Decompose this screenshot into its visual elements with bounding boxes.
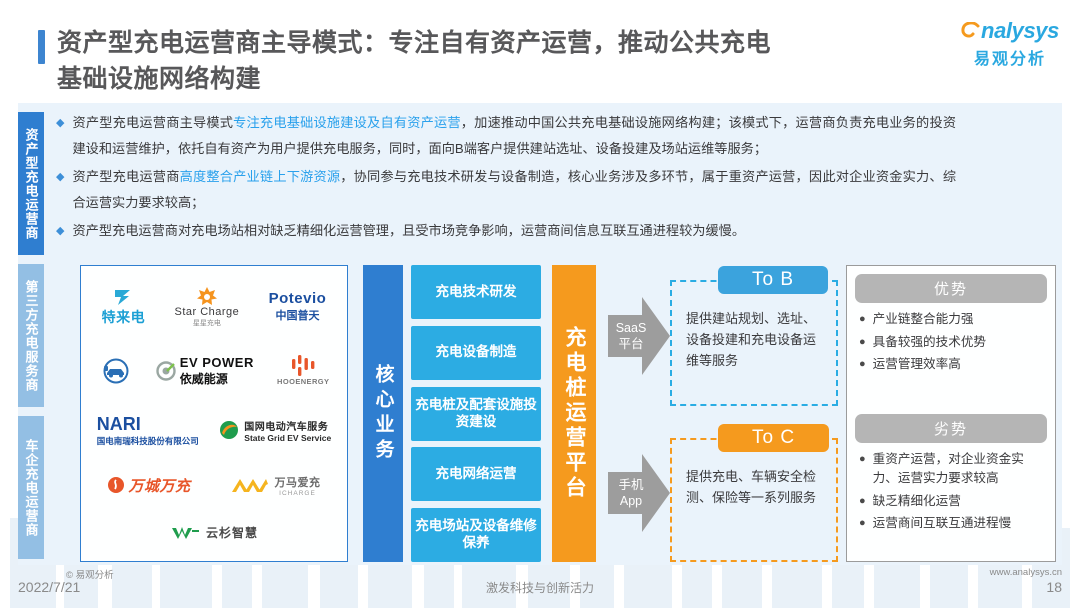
cons-heading: 劣势 — [855, 414, 1047, 443]
operator-logo-panel: 特来电 Star Charge 星星充电 Potevio 中国普天 — [80, 265, 348, 562]
brand-name: HOOENERGY — [277, 377, 329, 386]
bolt-icon — [112, 287, 134, 307]
brand-logo-potevio: Potevio 中国普天 — [269, 290, 327, 323]
core-item-1[interactable]: 充电设备制造 — [411, 326, 541, 380]
footer-slogan: 激发科技与创新活力 — [0, 579, 1080, 596]
pros-item-text: 运营管理效率高 — [873, 355, 961, 375]
pros-list: ●产业链整合能力强 ●具备较强的技术优势 ●运营管理效率高 — [855, 310, 1047, 378]
bullet-list: ◆ 资产型充电运营商主导模式专注充电基础设施建设及自有资产运营，加速推动中国公共… — [56, 110, 956, 246]
bullet-phrase: 资产型充电运营商 — [72, 169, 179, 184]
bullet-dot-icon: ● — [859, 514, 866, 534]
brand-logo-wanma-icharge: 万马爱充 ICHARGE — [231, 474, 320, 497]
cons-item-text: 缺乏精细化运营 — [873, 492, 961, 512]
swirl-icon — [218, 420, 240, 440]
brand-logo-evpower: EV POWER 依威能源 — [156, 355, 254, 387]
core-item-2[interactable]: 充电桩及配套设施投资建设 — [411, 387, 541, 441]
dest-body-to-c: 提供充电、车辆安全检测、保险等一系列服务 — [670, 438, 838, 562]
ev-car-icon — [99, 358, 133, 384]
cons-item: ●运营商间互联互通进程慢 — [859, 514, 1047, 534]
operator-logo-grid: 特来电 Star Charge 星星充电 Potevio 中国普天 — [87, 272, 341, 555]
sidebar-tabs: 资产型充电运营商 第三方充电服务商 车企充电运营商 — [18, 112, 44, 559]
cons-item: ●缺乏精细化运营 — [859, 492, 1047, 512]
bullet-dot-icon: ● — [859, 450, 866, 489]
arrow-label-line1: 手机 — [618, 477, 643, 493]
brand-logo-yunshan: 云杉智慧 — [170, 524, 258, 542]
channel-to-b: SaaS 平台 To B 提供建站规划、选址、设备投建和充电设备运维等服务 — [608, 266, 838, 406]
dest-caption-to-b: To B — [718, 266, 828, 294]
cons-item-text: 重资产运营，对企业资金实力、运营实力要求较高 — [873, 450, 1047, 489]
arrow-saas-icon: SaaS 平台 — [608, 297, 670, 375]
footer-url[interactable]: www.analysys.cn — [990, 567, 1062, 578]
diagram-area: 特来电 Star Charge 星星充电 Potevio 中国普天 — [56, 262, 1056, 564]
brand-name: 国网电动汽车服务 — [244, 418, 328, 433]
pros-cons-panel: 优势 ●产业链整合能力强 ●具备较强的技术优势 ●运营管理效率高 劣势 ●重资产… — [846, 265, 1056, 562]
brand-subname: 中国普天 — [275, 307, 319, 323]
cons-block: 劣势 ●重资产运营，对企业资金实力、运营实力要求较高 ●缺乏精细化运营 ●运营商… — [855, 414, 1047, 554]
bars-icon — [290, 355, 316, 377]
brand-subname: State Grid EV Service — [244, 433, 331, 443]
bullet-dot-icon: ● — [859, 310, 866, 330]
dest-body-to-b: 提供建站规划、选址、设备投建和充电设备运维等服务 — [670, 280, 838, 406]
pros-item: ●产业链整合能力强 — [859, 310, 1047, 330]
brand-logo-starcharge: Star Charge 星星充电 — [174, 286, 239, 328]
brand-logo-state-grid-ev: 国网电动汽车服务 State Grid EV Service — [218, 418, 331, 443]
brand-subname: ICHARGE — [279, 490, 316, 497]
channel-to-c: 手机 App To C 提供充电、车辆安全检测、保险等一系列服务 — [608, 424, 838, 562]
core-business-list: 充电技术研发 充电设备制造 充电桩及配套设施投资建设 充电网络运营 充电场站及设… — [411, 265, 541, 562]
highlighted-phrase: 专注充电基础设施建设及自有资产运营 — [233, 115, 461, 130]
logo-row: 特来电 Star Charge 星星充电 Potevio 中国普天 — [87, 286, 341, 328]
arrow-mobile-app-icon: 手机 App — [608, 454, 670, 532]
dest-box-to-c: To C 提供充电、车辆安全检测、保险等一系列服务 — [670, 424, 838, 562]
star-burst-icon — [196, 286, 218, 306]
bullet-dot-icon: ● — [859, 355, 866, 375]
core-item-0[interactable]: 充电技术研发 — [411, 265, 541, 319]
logo-wordmark: nalysys — [981, 18, 1059, 44]
brand-subname: 星星充电 — [193, 318, 221, 328]
brand-logo-tgood: 特来电 — [102, 287, 146, 327]
brand-name: 特来电 — [102, 307, 146, 327]
brand-name: 万城万充 — [128, 475, 190, 496]
footer: © 易观分析 2022/7/21 激发科技与创新活力 www.analysys.… — [0, 565, 1080, 608]
diamond-bullet-icon: ◆ — [56, 164, 64, 216]
cons-item-text: 运营商间互联互通进程慢 — [873, 514, 1012, 534]
bullet-dot-icon: ● — [859, 492, 866, 512]
cons-list: ●重资产运营，对企业资金实力、运营实力要求较高 ●缺乏精细化运营 ●运营商间互联… — [855, 450, 1047, 537]
title-accent-bar — [38, 30, 45, 64]
slide-root: analysys 易观分析 — [0, 0, 1080, 608]
logo-swoosh-icon — [961, 22, 981, 44]
brand-name: EV POWER — [180, 355, 254, 370]
analysys-logo: nalysys 易观分析 — [954, 18, 1066, 69]
bullet-item: ◆ 资产型充电运营商主导模式专注充电基础设施建设及自有资产运营，加速推动中国公共… — [56, 110, 956, 162]
platform-bar: 充电桩运营平台 — [552, 265, 596, 562]
target-leaf-icon — [156, 361, 176, 381]
core-item-4[interactable]: 充电场站及设备维修保养 — [411, 508, 541, 562]
arrow-label-line1: SaaS — [616, 320, 647, 336]
pros-heading: 优势 — [855, 274, 1047, 303]
bullet-item: ◆ 资产型充电运营商对充电场站相对缺乏精细化运营管理，且受市场竞争影响，运营商间… — [56, 218, 956, 244]
highlighted-phrase: 高度整合产业链上下游资源 — [180, 169, 341, 184]
bullet-text-1: 资产型充电运营商高度整合产业链上下游资源，协同参与充电技术研发与设备制造，核心业… — [72, 164, 956, 216]
logo-row: 云杉智慧 — [87, 524, 341, 542]
dest-caption-to-c: To C — [718, 424, 829, 452]
logo-row: EV POWER 依威能源 HOOENER — [87, 355, 341, 387]
dest-box-to-b: To B 提供建站规划、选址、设备投建和充电设备运维等服务 — [670, 266, 838, 406]
sidebar-item-third-party-service[interactable]: 第三方充电服务商 — [18, 264, 44, 407]
sidebar-item-oem-operator[interactable]: 车企充电运营商 — [18, 416, 44, 559]
brand-subname: 国电南瑞科技股份有限公司 — [97, 435, 199, 447]
logo-chinese-name: 易观分析 — [954, 45, 1066, 69]
page-title-line2: 基础设施网络构建 — [57, 62, 771, 98]
logo-row: NARI 国电南瑞科技股份有限公司 国网电动汽车服务 State Grid EV… — [87, 414, 341, 447]
bullet-text-0: 资产型充电运营商主导模式专注充电基础设施建设及自有资产运营，加速推动中国公共充电… — [72, 110, 956, 162]
bullet-item: ◆ 资产型充电运营商高度整合产业链上下游资源，协同参与充电技术研发与设备制造，核… — [56, 164, 956, 216]
diamond-bullet-icon: ◆ — [56, 218, 64, 244]
brand-logo-wanbang — [99, 358, 133, 384]
pros-item-text: 产业链整合能力强 — [873, 310, 974, 330]
core-item-3[interactable]: 充电网络运营 — [411, 447, 541, 501]
brand-name: Star Charge — [174, 306, 239, 318]
cons-item: ●重资产运营，对企业资金实力、运营实力要求较高 — [859, 450, 1047, 489]
brand-name: Potevio — [269, 290, 327, 307]
pros-item: ●运营管理效率高 — [859, 355, 1047, 375]
bullet-phrase: 资产型充电运营商对充电场站相对缺乏精细化运营管理，且受市场竞争影响，运营商间信息… — [72, 223, 745, 238]
pros-item-text: 具备较强的技术优势 — [873, 333, 986, 353]
pros-item: ●具备较强的技术优势 — [859, 333, 1047, 353]
arrow-label-line2: 平台 — [618, 336, 643, 352]
brand-subname: 依威能源 — [180, 370, 228, 387]
sidebar-item-asset-operator[interactable]: 资产型充电运营商 — [18, 112, 44, 255]
core-business-bar: 核心业务 — [363, 265, 403, 562]
brand-logo-wanchengwanchong: 万城万充 — [107, 475, 190, 496]
brand-name: 万马爱充 — [274, 474, 320, 490]
footer-page-number: 18 — [1046, 579, 1062, 595]
bullet-dot-icon: ● — [859, 333, 866, 353]
pros-block: 优势 ●产业链整合能力强 ●具备较强的技术优势 ●运营管理效率高 — [855, 274, 1047, 414]
brand-name: 云杉智慧 — [206, 524, 258, 541]
chevrons-icon — [231, 476, 269, 494]
page-title: 资产型充电运营商主导模式：专注自有资产运营，推动公共充电 基础设施网络构建 — [38, 26, 938, 97]
bullet-phrase: 资产型充电运营商主导模式 — [72, 115, 233, 130]
bullet-text-2: 资产型充电运营商对充电场站相对缺乏精细化运营管理，且受市场竞争影响，运营商间信息… — [72, 218, 745, 244]
brand-logo-nari: NARI 国电南瑞科技股份有限公司 — [97, 414, 199, 447]
w-leaf-icon — [170, 524, 200, 542]
brand-name: NARI — [97, 414, 141, 435]
diamond-bullet-icon: ◆ — [56, 110, 64, 162]
brand-logo-hooenergy: HOOENERGY — [277, 355, 329, 386]
flame-circle-icon — [107, 476, 125, 494]
page-title-line1: 资产型充电运营商主导模式：专注自有资产运营，推动公共充电 — [57, 26, 771, 62]
logo-row: 万城万充 万马爱充 ICHARGE — [87, 474, 341, 497]
arrow-label-line2: App — [620, 493, 642, 509]
